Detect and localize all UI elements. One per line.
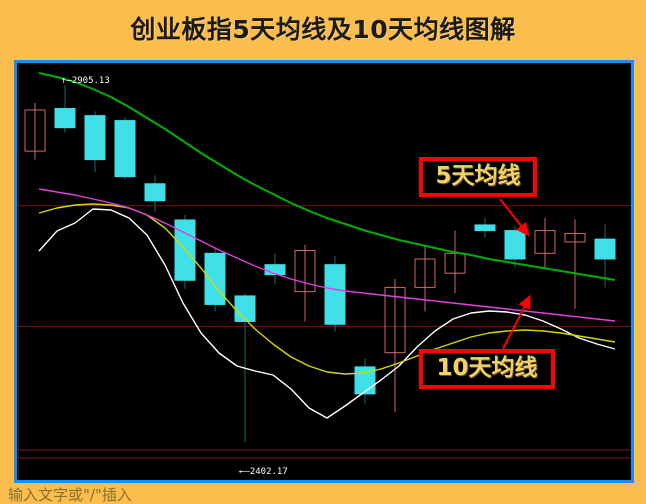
candlestick-2 (85, 111, 105, 172)
candlestick-10 (325, 256, 345, 331)
candlestick-18 (565, 219, 585, 308)
candlestick-15 (475, 218, 495, 238)
candlestick-6 (205, 248, 225, 312)
status-strip: 输入文字或"/"插入 (0, 486, 646, 504)
candlestick-plot-area[interactable]: ↑—2905.13 ←—2402.17 (17, 63, 631, 480)
arrow-ma10 (503, 300, 528, 349)
title-banner: 创业板指5天均线及10天均线图解 (0, 0, 646, 56)
candlestick-13 (415, 245, 435, 312)
chart-canvas (17, 63, 631, 480)
stock-chart-window[interactable]: ↑—2905.13 ←—2402.17 (14, 60, 634, 483)
candlestick-3 (115, 117, 135, 179)
price-low-label: ←—2402.17 (239, 467, 288, 477)
page-title: 创业板指5天均线及10天均线图解 (130, 10, 515, 46)
candlestick-4 (145, 175, 165, 212)
candlestick-5 (175, 215, 195, 289)
callout-ma10[interactable]: 10天均线 (419, 349, 555, 389)
candlestick-8 (265, 253, 285, 284)
status-bar-text: 输入文字或"/"插入 (8, 486, 132, 504)
candlestick-0 (25, 103, 45, 160)
arrow-ma5 (500, 199, 526, 232)
callout-ma5[interactable]: 5天均线 (419, 157, 537, 197)
candlestick-12 (385, 279, 405, 412)
callout-ma10-label: 10天均线 (436, 356, 537, 380)
candlestick-1 (55, 85, 75, 133)
candlestick-17 (535, 218, 555, 268)
price-high-label: ↑—2905.13 (61, 76, 110, 86)
candlestick-14 (445, 231, 465, 293)
callout-ma5-label: 5天均线 (435, 164, 520, 188)
